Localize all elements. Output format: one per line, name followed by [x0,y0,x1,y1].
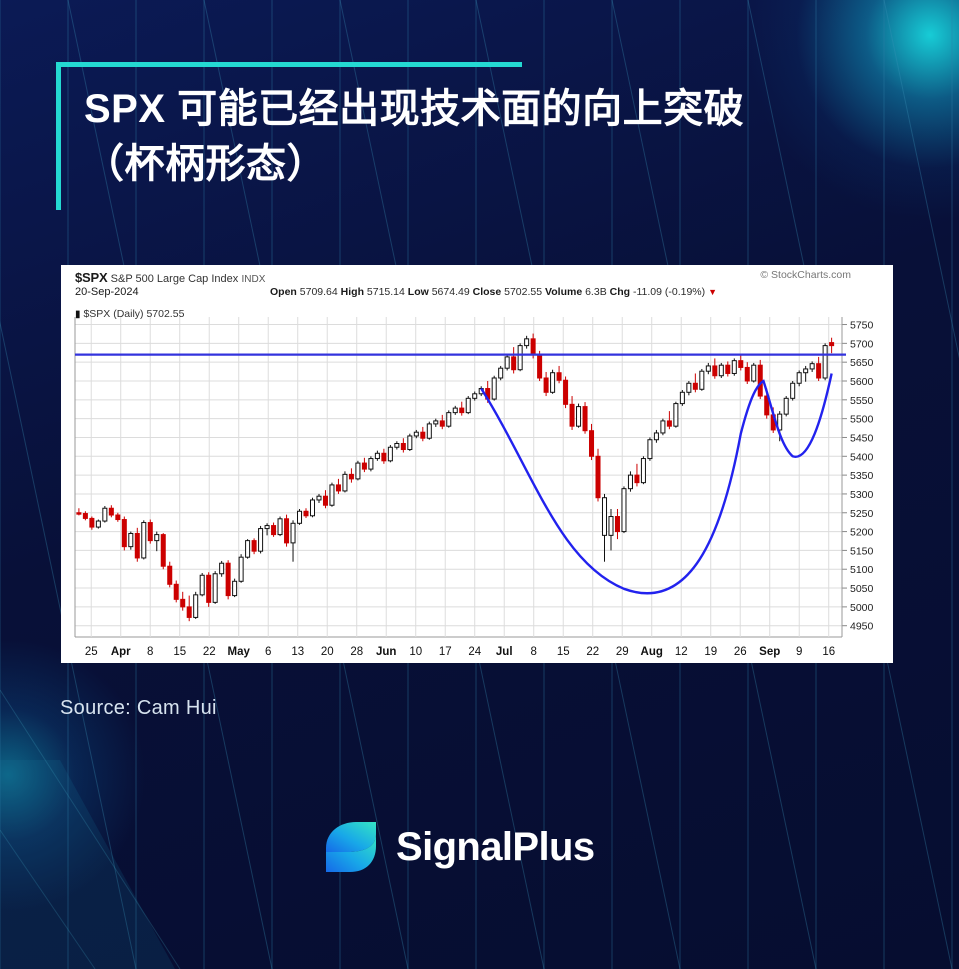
candlestick [680,392,684,403]
candlestick [551,373,555,393]
candlestick [161,535,165,567]
candlestick [466,398,470,412]
candlestick [641,459,645,483]
candlestick [96,521,100,527]
candlestick [233,581,237,595]
high-label: High [341,286,364,298]
candlestick [440,421,444,426]
candlestick [220,563,224,574]
candlestick [304,511,308,516]
candlestick [745,367,749,381]
candlestick [349,474,353,479]
x-axis-tick-label: 12 [675,646,688,658]
candlestick [784,398,788,414]
stockcharts-watermark: © StockCharts.com [760,269,851,281]
x-axis-tick-label: 29 [616,646,629,658]
chart-svg: 4950500050505100515052005250530053505400… [61,313,893,663]
y-axis-tick-label: 5450 [850,432,874,444]
candlestick [602,498,606,536]
candlestick [265,526,269,529]
candlestick [810,364,814,369]
low-value: 5674.49 [432,286,470,298]
x-axis-tick-label: 19 [704,646,717,658]
candlestick [570,404,574,426]
candlestick [583,407,587,431]
candlestick [667,421,671,426]
candlestick [142,523,146,558]
x-axis-tick-label: 28 [350,646,363,658]
candlestick [492,378,496,399]
candlestick [596,456,600,497]
title-block: SPX 可能已经出现技术面的向上突破 （杯柄形态） [56,62,886,192]
brand-name: SignalPlus [396,825,595,870]
candlestick [116,515,120,520]
open-value: 5709.64 [300,286,338,298]
candlestick [739,361,743,368]
candlestick [518,346,522,370]
candlestick [395,443,399,447]
candlestick [375,453,379,458]
y-axis-tick-label: 5400 [850,451,874,463]
candlestick [687,383,691,392]
chart-symbol: $SPX [75,270,107,285]
candlestick [298,511,302,523]
page-title-line2: （杯柄形态） [84,137,886,192]
candlestick [77,513,81,514]
x-axis-tick-label: Aug [641,646,663,658]
y-axis-tick-label: 5100 [850,564,874,576]
candlestick [336,485,340,491]
x-axis-tick-label: 20 [321,646,334,658]
watermark-text: StockCharts.com [771,269,851,281]
x-axis-tick-label: 22 [586,646,599,658]
page-title: SPX 可能已经出现技术面的向上突破 （杯柄形态） [56,62,886,192]
y-axis-tick-label: 5750 [850,320,874,332]
y-axis-tick-label: 5500 [850,414,874,426]
low-label: Low [408,286,429,298]
source-attribution: Source: Cam Hui [60,697,217,720]
volume-label: Volume [545,286,582,298]
candlestick [654,433,658,440]
candlestick [577,407,581,427]
candlestick [122,520,126,547]
candlestick [174,584,178,599]
x-axis-tick-label: 17 [439,646,452,658]
candlestick [590,431,594,457]
candlestick [414,432,418,436]
chart-annotations [75,355,846,594]
y-axis-tick-label: 5200 [850,527,874,539]
candlestick [804,369,808,373]
candlestick [239,557,243,581]
chart-exchange: INDX [241,274,265,285]
y-axis-tick-label: 5150 [850,545,874,557]
x-axis-tick-label: Jul [496,646,513,658]
candlestick-series [77,334,834,622]
candlestick [317,496,321,500]
x-axis-tick-label: 16 [822,646,835,658]
candlestick [564,380,568,404]
x-axis-tick-label: 13 [291,646,304,658]
candlestick [194,595,198,618]
x-axis-tick-label: 24 [468,646,481,658]
candlestick [706,366,710,371]
y-axis-tick-label: 5250 [850,508,874,520]
candlestick [323,496,327,505]
volume-value: 6.3B [585,286,607,298]
y-axis-tick-label: 5650 [850,357,874,369]
x-axis-tick-label: 15 [557,646,570,658]
x-axis-tick-label: Apr [111,646,131,658]
candlestick [388,447,392,461]
chart-index-name: S&P 500 Large Cap Index [111,273,239,285]
candlestick [525,339,529,346]
x-axis-tick-label: Sep [759,646,780,658]
candlestick [310,500,314,516]
candlestick [109,508,113,515]
candlestick [505,357,509,368]
x-axis-tick-label: 8 [531,646,537,658]
chg-label: Chg [610,286,630,298]
candlestick [719,365,723,376]
candlestick [246,541,250,558]
page-title-line1: SPX 可能已经出现技术面的向上突破 [84,82,886,137]
candlestick [512,357,516,370]
brand-logo: SignalPlus [320,818,595,876]
x-axis-tick-label: 26 [734,646,747,658]
y-axis-tick-label: 5600 [850,376,874,388]
y-axis-labels: 4950500050505100515052005250530053505400… [850,320,874,633]
candlestick [622,489,626,532]
candlestick [207,575,211,602]
candlestick [343,474,347,491]
candlestick [823,346,827,378]
candlestick [473,394,477,399]
candlestick [135,533,139,557]
x-axis-tick-label: 25 [85,646,98,658]
accent-bar-vertical [56,62,61,210]
high-value: 5715.14 [367,286,405,298]
chart-plot-area: 4950500050505100515052005250530053505400… [61,313,893,663]
candlestick [369,459,373,470]
x-axis-tick-label: 8 [147,646,153,658]
close-label: Close [473,286,502,298]
candlestick [291,523,295,543]
candlestick [427,424,431,438]
x-axis-tick-label: 10 [409,646,422,658]
y-axis-tick-label: 5700 [850,338,874,350]
x-axis-tick-label: 22 [203,646,216,658]
accent-bar-horizontal [56,62,522,67]
candlestick [797,373,801,384]
candlestick [615,517,619,532]
chart-date: 20-Sep-2024 [75,286,139,298]
candlestick [168,566,172,584]
x-axis-tick-label: 9 [796,646,802,658]
candlestick [447,413,451,427]
candlestick [285,519,289,543]
candlestick [700,371,704,389]
chart-header: $SPX S&P 500 Large Cap Index INDX 20-Sep… [61,265,893,313]
chart-ohlc: Open 5709.64 High 5715.14 Low 5674.49 Cl… [270,286,717,298]
candlestick [609,517,613,536]
close-value: 5702.55 [504,286,542,298]
candlestick [830,343,834,346]
candlestick [726,365,730,373]
chart-date-ohlc-line: 20-Sep-2024 Open 5709.64 High 5715.14 Lo… [75,286,885,298]
x-axis-tick-label: Jun [376,646,396,658]
candlestick [272,526,276,535]
candlestick [129,533,133,546]
y-axis-tick-label: 5350 [850,470,874,482]
candlestick [83,514,87,519]
stock-chart-panel: $SPX S&P 500 Large Cap Index INDX 20-Sep… [61,265,893,663]
y-axis-tick-label: 5550 [850,395,874,407]
candlestick [103,508,107,521]
candlestick [356,463,360,479]
y-axis-tick-label: 5050 [850,583,874,595]
candlestick [200,575,204,595]
candlestick [531,339,535,355]
candlestick [758,365,762,396]
y-axis-tick-label: 5000 [850,602,874,614]
chg-value: -11.09 (-0.19%) [633,286,705,298]
candlestick [382,453,386,461]
candlestick [155,535,159,541]
candlestick [252,541,256,552]
candlestick [330,485,334,505]
candlestick [213,574,217,603]
x-axis-tick-label: 15 [173,646,186,658]
candlestick [421,432,425,438]
candlestick [693,383,697,389]
candlestick [148,523,152,541]
candlestick [538,355,542,378]
chg-down-arrow-icon: ▼ [708,287,717,297]
candlestick [628,475,632,489]
candlestick [713,366,717,376]
candlestick [557,373,561,381]
candlestick [817,364,821,378]
x-axis-labels: 25Apr81522May6132028Jun101724Jul8152229A… [85,646,835,658]
open-label: Open [270,286,297,298]
candlestick [732,361,736,374]
candlestick [453,408,457,413]
y-axis-tick-label: 4950 [850,621,874,633]
candlestick [752,365,756,381]
candlestick [401,443,405,449]
candlestick [259,529,263,552]
candlestick [362,463,366,469]
candlestick [90,518,94,527]
candlestick [648,440,652,459]
signalplus-wave-logo-icon [320,818,382,876]
candlestick [181,599,185,607]
candlestick [460,408,464,413]
candlestick [499,368,503,378]
copyright-icon: © [760,269,768,281]
y-axis-tick-label: 5300 [850,489,874,501]
x-axis-tick-label: 6 [265,646,271,658]
candlestick [226,563,230,595]
candlestick [635,475,639,483]
candlestick [544,378,548,392]
candlestick [674,404,678,427]
candlestick [408,436,412,450]
candlestick [791,383,795,398]
candlestick [661,421,665,433]
x-axis-tick-label: May [228,646,251,658]
candlestick [434,421,438,424]
candlestick [187,607,191,618]
candlestick [278,519,282,535]
